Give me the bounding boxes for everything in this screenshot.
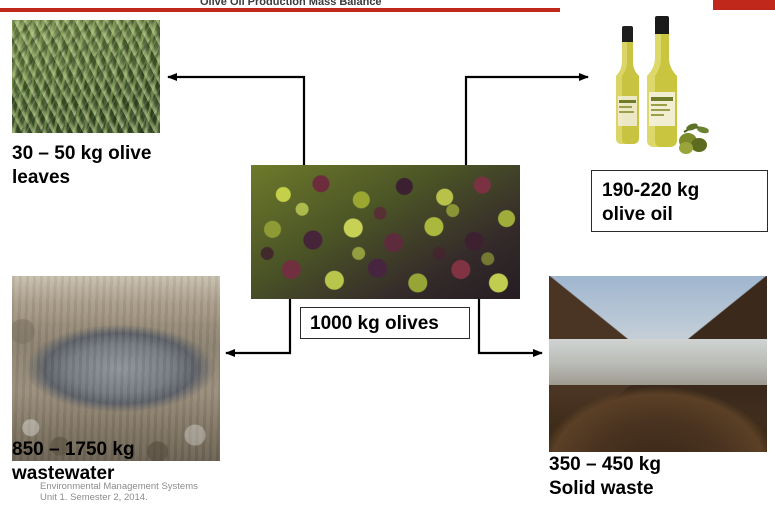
olive-oil-bottles-svg [600, 14, 730, 154]
arrow-to-oil [466, 77, 588, 165]
olive-leaves-photo [12, 20, 160, 133]
wastewater-pond-photo [12, 276, 220, 461]
slide-title: Olive Oil Production Mass Balance [200, 0, 560, 8]
olives-heap-photo-content [251, 165, 520, 299]
olive-oil-bottles-photo [600, 14, 730, 154]
olive-oil-bottles-photo-content [600, 14, 730, 154]
header-accent-block [713, 0, 775, 10]
slide-header-bar: Olive Oil Production Mass Balance [0, 0, 775, 12]
olives-heap-photo [251, 165, 520, 299]
slide-canvas: Olive Oil Production Mass Balance [0, 0, 775, 505]
olive-oil-label: 190-220 kg olive oil [591, 170, 768, 232]
arrow-to-solid-waste [479, 299, 542, 353]
solid-waste-label: 350 – 450 kg Solid waste [549, 453, 775, 501]
solid-waste-pile-photo-content [549, 276, 767, 452]
olive-leaves-photo-content [12, 20, 160, 133]
slide-footer: Environmental Management Systems Unit 1.… [40, 481, 340, 503]
header-rule [0, 8, 560, 12]
olive-leaves-label: 30 – 50 kg olive leaves [12, 142, 202, 190]
wastewater-pond-photo-content [12, 276, 220, 461]
olives-input-label: 1000 kg olives [300, 307, 470, 339]
wastewater-label: 850 – 1750 kg wastewater [12, 438, 232, 486]
arrow-to-wastewater [226, 299, 290, 353]
solid-waste-pile-photo [549, 276, 767, 452]
